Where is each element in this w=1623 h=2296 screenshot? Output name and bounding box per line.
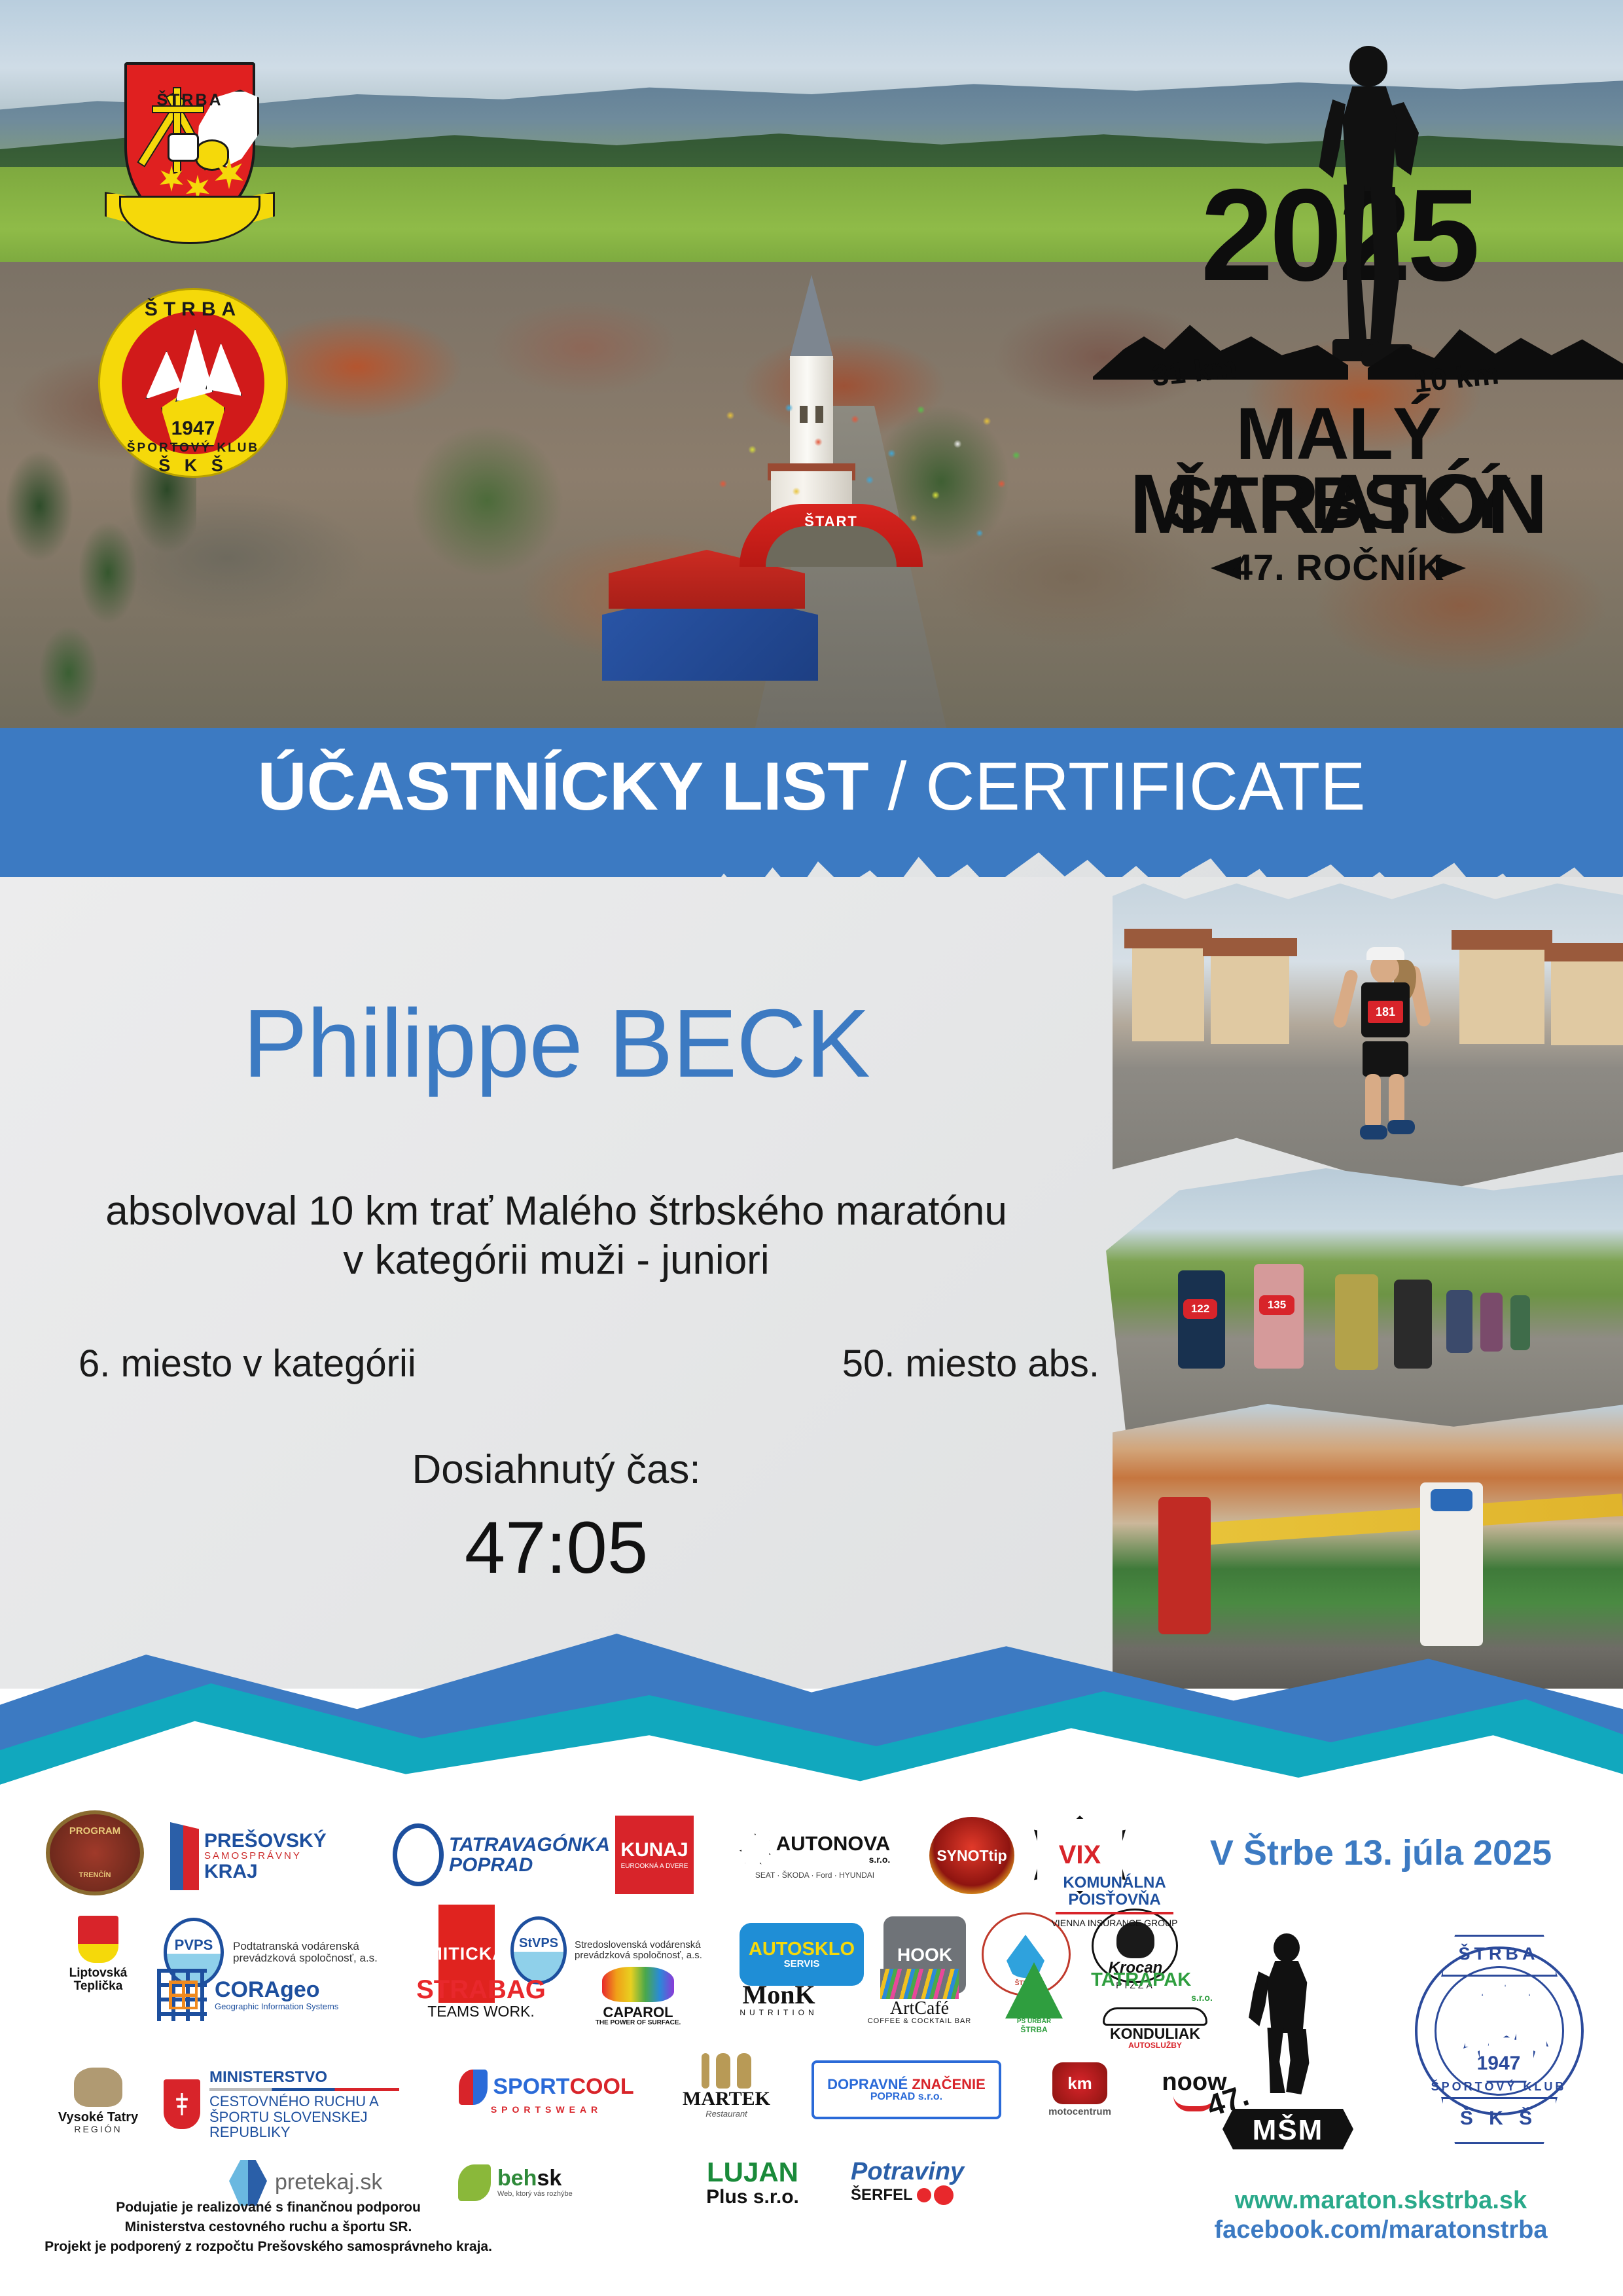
sponsor-ps-urbar-strba[interactable]: PS URBÁR ŠTRBA (988, 1957, 1080, 2039)
dot-icon (934, 2185, 954, 2205)
km-badge-icon: km (1052, 2062, 1107, 2104)
placement-row: 6. miesto v kategórii 50. miesto abs. (79, 1342, 1099, 1386)
crest-town-name: ŠTRBA (105, 91, 275, 110)
runner-shoe-right (1387, 1120, 1415, 1134)
folk-costume-figure (1158, 1497, 1211, 1634)
caparol-elephant-icon (602, 1967, 674, 2002)
runner-arm-left (1317, 99, 1346, 178)
photo-collage: 181 122 135 (1106, 880, 1623, 1689)
runner-figure (1446, 1290, 1472, 1353)
runner-leg-right (1366, 187, 1400, 356)
sponsor-caparol[interactable]: CAPAROL THE POWER OF SURFACE. (576, 1961, 700, 2033)
website-link[interactable]: www.maraton.skstrba.sk (1152, 2186, 1610, 2215)
marathon-logo: 2025 31 km 10 km MALÝ ŠTRBSKÝ MARATÓN 47… (1054, 33, 1623, 609)
runner-torso (1339, 86, 1399, 191)
runner-cap (1366, 947, 1404, 960)
funding-disclaimer: Podujatie je realizované s finančnou pod… (39, 2198, 497, 2256)
liptovska-crest-icon (78, 1916, 118, 1963)
runner-shoe-left (1360, 1125, 1387, 1139)
car-outline-icon (1103, 2007, 1207, 2026)
club-mountain-peaks (145, 329, 241, 407)
finisher-runner: 181 (1329, 931, 1440, 1147)
runner-head (1349, 46, 1387, 86)
sponsor-presovsky-kraj[interactable]: PREŠOVSKÝ SAMOSPRÁVNY KRAJ (170, 1822, 334, 1890)
divider (1056, 1912, 1173, 1914)
runner-figure (1480, 1293, 1503, 1352)
absolute-place: 50. miesto abs. (842, 1342, 1099, 1386)
sponsor-komunalna-poistovna[interactable]: KOMUNÁLNA POISŤOVŇA VIENNA INSURANCE GRO… (1039, 1865, 1190, 1937)
runner-figure (1254, 1264, 1304, 1369)
autonova-star-icon (740, 1833, 771, 1865)
time-label: Dosiahnutý čas: (0, 1446, 1113, 1493)
tatravagonka-ellipse-icon (393, 1823, 444, 1886)
building (1211, 952, 1289, 1044)
sks-club-logo: ŠTRBA 1947 ŠPORTOVÝ KLUB Š K Š (98, 288, 288, 484)
issue-date: V Štrbe 13. júla 2025 (1152, 1833, 1610, 1873)
msm-runner-head (1274, 1933, 1300, 1962)
race-bib-number: 135 (1259, 1295, 1294, 1315)
msm-runner-body (1264, 1961, 1309, 2033)
stamp-abbrev: Š K Š (1400, 2108, 1597, 2130)
finish-time: 47:05 (0, 1505, 1113, 1590)
sponsor-corageo[interactable]: CORAgeo Geographic Information Systems (157, 1962, 373, 2028)
runner-leg-left (1365, 1074, 1381, 1129)
disclaimer-line-3: Projekt je podporený z rozpočtu Prešovsk… (39, 2237, 497, 2257)
runner-figure (1510, 1295, 1530, 1350)
race-bib-number: 122 (1183, 1299, 1217, 1319)
crest-fist (168, 133, 199, 162)
cutlery-icon (702, 2053, 751, 2089)
sponsor-synottip[interactable]: SYNOTtip (929, 1817, 1014, 1894)
banner-title-en: / CERTIFICATE (869, 749, 1366, 825)
msm-runner-leg-right (1284, 2029, 1310, 2094)
dot-icon (917, 2188, 931, 2202)
building (1551, 958, 1623, 1045)
disclaimer-line-1: Podujatie je realizované s finančnou pod… (39, 2198, 497, 2217)
msm-runner-arm (1247, 1971, 1270, 2026)
club-top-label: ŠTRBA (98, 298, 288, 321)
artcafe-stripes-icon (880, 1969, 959, 1999)
runner-shorts (1363, 1041, 1408, 1077)
banner-title-sk: ÚČASTNÍCKY LIST (258, 749, 869, 825)
sponsor-potraviny-serfel[interactable]: Potraviny ŠERFEL (851, 2149, 1041, 2215)
sponsor-program-trencin[interactable]: PROGRAM TRENČÍN (46, 1810, 144, 1895)
kraj-emblem-icon (170, 1822, 199, 1890)
beh-runner-icon (458, 2164, 491, 2201)
msm-runner-icon (1246, 1931, 1331, 2094)
sks-stamp-emblem: ŠTRBA 1947 ŠPORTOVÝ KLUB Š K Š (1400, 1931, 1597, 2153)
crest-ribbon (105, 192, 275, 248)
marathon-title-line2: MARATÓN (1054, 465, 1623, 545)
sponsor-vysoke-tatry[interactable]: Vysoké Tatry REGIÓN (46, 2055, 151, 2147)
runner-arm-left (1332, 969, 1359, 1029)
marathon-edition: 47. ROČNÍK (1054, 550, 1623, 584)
description-line-2: v kategórii muži - juniori (0, 1237, 1113, 1283)
roof (1544, 943, 1623, 961)
spruce-tree-icon (1005, 1962, 1063, 2018)
sponsor-lujan-plus[interactable]: LUJAN Plus s.r.o. (687, 2148, 818, 2217)
runner-cap (1431, 1489, 1472, 1511)
club-founding-year: 1947 (98, 418, 288, 440)
description-line-1: absolvoval 10 km trať Malého štrbského m… (0, 1188, 1113, 1234)
peak-center (175, 329, 213, 402)
contact-links: www.maraton.skstrba.sk facebook.com/mara… (1152, 2186, 1610, 2245)
sponsor-km-motocentrum[interactable]: km motocentrum (1021, 2054, 1139, 2126)
sportcool-swoosh-icon (459, 2070, 488, 2105)
start-arch: ŠTART (740, 504, 923, 576)
crest-cuff (195, 139, 229, 171)
stamp-top-label: ŠTRBA (1400, 1944, 1597, 1964)
roof (1452, 930, 1552, 950)
strba-coat-of-arms: ŠTRBA (105, 62, 275, 278)
sponsor-ministerstvo[interactable]: MINISTERSTVO CESTOVNÉHO RUCHU A ŠPORTU S… (164, 2055, 438, 2153)
building (1459, 946, 1544, 1044)
club-arc-label: ŠPORTOVÝ KLUB (98, 441, 288, 456)
runner-figure (1178, 1270, 1225, 1369)
certificate-page: ŠTART ŠTRBA ŠTRBA 1947 ŠPOR (0, 0, 1623, 2296)
msm-emblem: 47. MŠM (1204, 1931, 1381, 2153)
corageo-grid-icon (157, 1969, 207, 2021)
participant-name: Philippe BECK (0, 988, 1113, 1100)
sponsor-tatrapak[interactable]: TATRAPAK s.r.o. (1086, 1957, 1217, 2003)
banner-title: ÚČASTNÍCKY LIST / CERTIFICATE (0, 751, 1623, 823)
runner-figure (1335, 1274, 1378, 1370)
chamois-icon (74, 2068, 122, 2107)
race-bib-number: 181 (1368, 1001, 1403, 1023)
finish-banner-tape (1191, 1494, 1623, 1546)
photo-finisher: 181 (1113, 880, 1623, 1194)
msm-runner-leg-left (1263, 2028, 1287, 2093)
building (1132, 943, 1204, 1041)
start-arch-label: ŠTART (740, 513, 923, 530)
sponsor-konduliak[interactable]: KONDULIAK AUTOSLUŽBY (1086, 2007, 1224, 2050)
sponsor-monk-nutrition[interactable]: MonK NUTRITION (713, 1967, 844, 2030)
sponsor-autonova[interactable]: AUTONOVA s.r.o. SEAT · ŠKODA · Ford · HY… (720, 1817, 910, 1895)
stamp-arc-label: ŠPORTOVÝ KLUB (1400, 2080, 1597, 2094)
roof (1203, 938, 1297, 956)
photo-finish-line (1113, 1404, 1623, 1689)
sponsor-tatravagonka[interactable]: TATRAVAGÓNKA POPRAD (393, 1822, 569, 1888)
arch-opening (766, 526, 897, 567)
runner-leg-left (1339, 185, 1369, 348)
runner-leg-right (1389, 1074, 1404, 1125)
ribbon-arc (119, 196, 260, 244)
sponsor-strabag[interactable]: STRABAG TEAMS WORK. (406, 1966, 556, 2029)
runner-silhouette-icon (1315, 39, 1420, 367)
sponsor-dopravne-znacenie[interactable]: DOPRAVNÉ ZNAČENIE POPRAD s.r.o. (811, 2060, 1001, 2119)
runner-figure (1394, 1280, 1432, 1369)
church-spire (789, 275, 834, 360)
club-abbrev-label: Š K Š (98, 456, 288, 476)
facebook-link[interactable]: facebook.com/maratonstrba (1152, 2215, 1610, 2245)
sponsor-artcafe[interactable]: ArtCafé COFFEE & COCKTAIL BAR (857, 1958, 982, 2036)
disclaimer-line-2: Ministerstva cestovného ruchu a športu S… (39, 2217, 497, 2237)
msm-abbrev: MŠM (1222, 2114, 1353, 2147)
slovak-crest-icon (164, 2079, 200, 2129)
category-place: 6. miesto v kategórii (79, 1342, 416, 1386)
stamp-year: 1947 (1400, 2053, 1597, 2075)
sponsor-kunaj[interactable]: KUNAJ EUROOKNÁ A DVERE (615, 1816, 694, 1894)
roof (1124, 929, 1212, 948)
sponsor-martek[interactable]: MARTEK Restaurant (661, 2050, 792, 2122)
sponsor-sportcool[interactable]: SPORTCOOL SPORTSWEAR (458, 2059, 635, 2125)
sponsor-logo-grid-lower: KOMUNÁLNA POISŤOVŇA VIENNA INSURANCE GRO… (39, 1957, 1139, 2232)
photo-hill-runners: 122 135 (1106, 1168, 1623, 1443)
peak-left (145, 351, 182, 399)
